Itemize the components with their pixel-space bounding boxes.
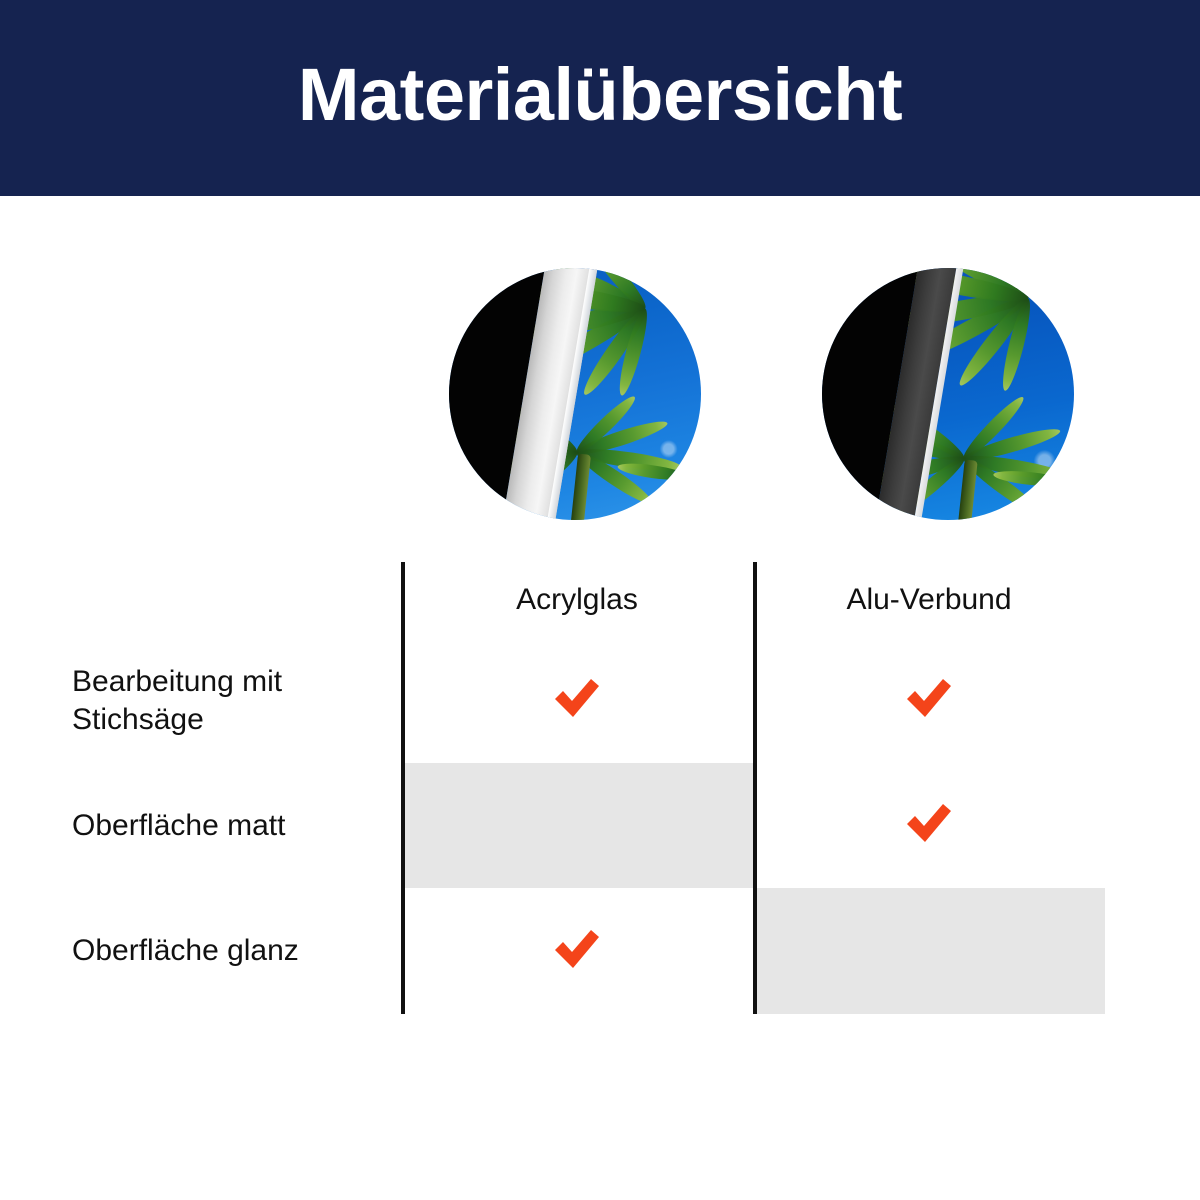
row-label-oberflaeche-matt: Oberfläche matt [72,763,401,888]
cell-bearbeitung-acrylglas [401,638,753,763]
cell-bearbeitung-alu-verbund [753,638,1105,763]
header-band: Materialübersicht [0,0,1200,196]
table-header-row: Acrylglas Alu-Verbund [72,562,1105,638]
table-row: Oberfläche matt [72,763,1105,888]
row-label-line-1: Oberfläche glanz [72,934,299,967]
thumbnail-alu-verbund[interactable]: Alu-Verbund Platte mit Palmen-Motiv, Sch… [822,268,1074,520]
row-label-line-1: Bearbeitung mit [72,665,282,698]
check-mark-icon [551,927,603,971]
column-header-alu-verbund: Alu-Verbund [753,562,1105,638]
thumbnail-acrylglas[interactable]: Acrylglas Platte mit Palmen-Motiv, Schni… [449,268,701,520]
cell-matt-acrylglas [401,763,753,888]
row-label-oberflaeche-glanz: Oberfläche glanz [72,888,401,1014]
cell-glanz-alu-verbund [753,888,1105,1014]
column-header-acrylglas: Acrylglas [401,562,753,638]
cell-matt-alu-verbund [753,763,1105,888]
table-vertical-divider-2 [753,562,757,1014]
acrylglas-scene [449,268,701,520]
material-overview-page: Materialübersicht [0,0,1200,1200]
check-mark-icon [903,676,955,720]
row-label-line-1: Oberfläche matt [72,809,285,842]
alu-verbund-scene [822,268,1074,520]
header-cell-empty [72,562,401,638]
page-title: Materialübersicht [0,0,1200,196]
check-mark-icon [903,801,955,845]
check-mark-icon [551,676,603,720]
table-row: Oberfläche glanz [72,888,1105,1014]
row-label-bearbeitung-stichsaege: Bearbeitung mit Stichsäge [72,638,401,763]
cell-glanz-acrylglas [401,888,753,1014]
table-vertical-divider-1 [401,562,405,1014]
thumbnail-row: Acrylglas Platte mit Palmen-Motiv, Schni… [0,268,1200,524]
material-comparison-table: Acrylglas Alu-Verbund Bearbeitung mit St… [72,562,1105,1014]
table-row: Bearbeitung mit Stichsäge [72,638,1105,763]
row-label-line-2: Stichsäge [72,703,204,736]
